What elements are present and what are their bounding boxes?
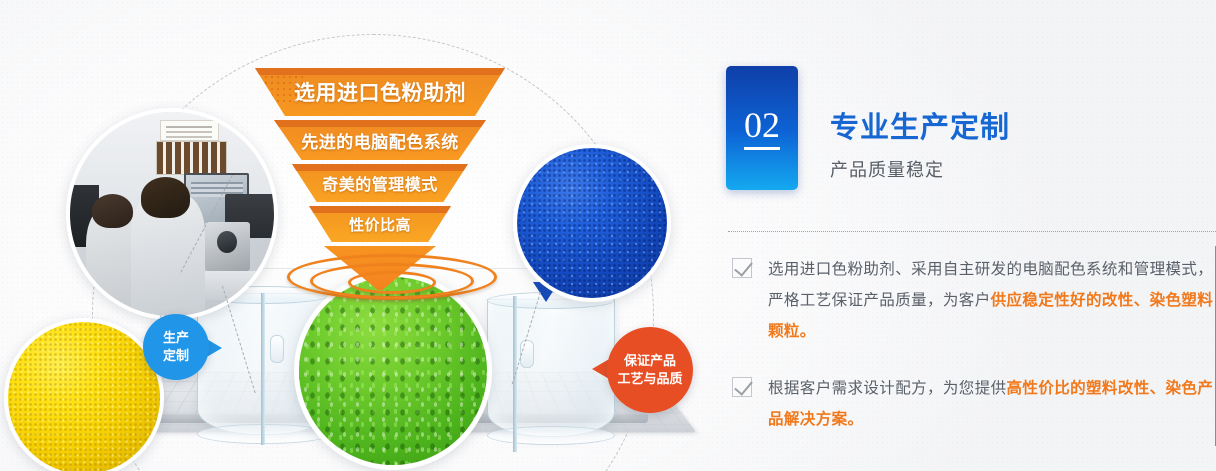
list-item: 根据客户需求设计配方，为您提供高性价比的塑料改性、染色产品解决方案。 — [726, 373, 1216, 435]
bullet-list: 选用进口色粉助剂、采用自主研发的电脑配色系统和管理模式，严格工艺保证产品质量，为… — [726, 254, 1216, 461]
acrylic-panel-right-handle — [520, 340, 534, 368]
badge-production-custom-line2: 定制 — [163, 347, 189, 365]
blue-powder-photo — [513, 144, 671, 302]
funnel-layer-2-label: 先进的电脑配色系统 — [274, 120, 486, 160]
badge-quality-guarantee-line2: 工艺与品质 — [617, 370, 682, 388]
badge-production-custom: 生产 定制 — [143, 314, 209, 380]
bullet-text: 根据客户需求设计配方，为您提供高性价比的塑料改性、染色产品解决方案。 — [768, 373, 1213, 435]
checkbox-check-icon — [732, 258, 752, 278]
acrylic-panel-left-handle — [270, 335, 284, 363]
visual-composition: 选用进口色粉助剂 先进的电脑配色系统 奇美的管理模式 性价比高 — [0, 0, 712, 471]
funnel-layer-1-label: 选用进口色粉助剂 — [255, 68, 505, 116]
lab-worker-back-head — [92, 194, 133, 229]
lab-worker-front-head — [141, 177, 190, 218]
banner-stage: 选用进口色粉助剂 先进的电脑配色系统 奇美的管理模式 性价比高 — [0, 0, 1216, 471]
section-number: 02 — [744, 107, 780, 150]
badge-quality-guarantee-line1: 保证产品 — [624, 352, 676, 370]
checkbox-check-icon — [732, 377, 752, 397]
yellow-powder-texture — [8, 322, 160, 471]
funnel-layer-2: 先进的电脑配色系统 — [274, 120, 486, 160]
page-title: 专业生产定制 — [830, 104, 1010, 146]
badge-production-custom-line1: 生产 — [163, 329, 189, 347]
content-column: 02 专业生产定制 产品质量稳定 选用进口色粉助剂、采用自主研发的电脑配色系统和… — [726, 0, 1216, 471]
funnel-layer-3-label: 奇美的管理模式 — [292, 164, 468, 202]
funnel-layer-1: 选用进口色粉助剂 — [255, 68, 505, 116]
funnel-layer-3: 奇美的管理模式 — [292, 164, 468, 202]
section-number-box: 02 — [726, 66, 798, 190]
funnel-layer-4: 性价比高 — [309, 206, 451, 242]
list-item: 选用进口色粉助剂、采用自主研发的电脑配色系统和管理模式，严格工艺保证产品质量，为… — [726, 254, 1216, 347]
lab-photo — [66, 108, 278, 320]
lab-wall-document — [160, 120, 219, 140]
dotted-divider — [728, 231, 1216, 232]
acrylic-panel-right-bottom-rim — [487, 426, 615, 445]
funnel-layer-4-label: 性价比高 — [309, 206, 451, 242]
green-pellets-photo — [294, 272, 492, 470]
blue-powder-texture — [517, 148, 667, 298]
orange-ring-inner — [348, 271, 436, 294]
lab-photo-scene — [70, 112, 274, 316]
heading-group: 专业生产定制 产品质量稳定 — [830, 104, 1010, 182]
badge-quality-guarantee: 保证产品 工艺与品质 — [607, 327, 693, 413]
lab-colorimeter — [205, 222, 250, 271]
green-pellets-texture — [299, 277, 487, 465]
bullet-text: 选用进口色粉助剂、采用自主研发的电脑配色系统和管理模式，严格工艺保证产品质量，为… — [768, 254, 1213, 347]
page-subtitle: 产品质量稳定 — [830, 156, 1010, 182]
yellow-powder-photo — [4, 318, 164, 471]
lab-sample-rack — [156, 141, 227, 176]
